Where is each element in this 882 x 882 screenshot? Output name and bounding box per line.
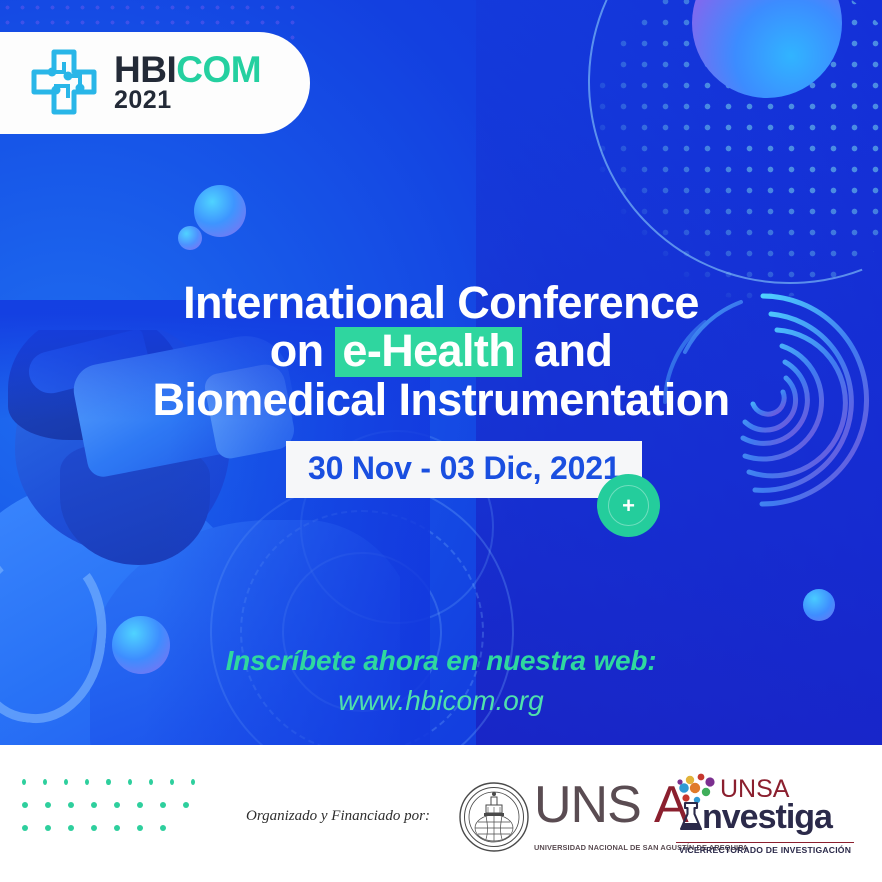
date-badge: 30 Nov - 03 Dic, 2021 <box>286 441 642 498</box>
dot <box>91 825 97 831</box>
logo-year: 2021 <box>114 86 172 114</box>
dot <box>137 802 143 808</box>
investiga-subtitle: VICERRECTORADO DE INVESTIGACIÓN <box>676 842 854 855</box>
dot <box>68 825 74 831</box>
logo-text-com: COM <box>176 51 261 88</box>
title-line-2-before: on <box>270 325 336 376</box>
unsa-investiga-logo: UNSA nvestiga VICERRECTORADO DE INVESTIG… <box>676 773 854 855</box>
cta-headline: Inscríbete ahora en nuestra web: <box>0 645 882 677</box>
medical-cross-circuit-icon <box>28 46 100 118</box>
dot <box>106 779 110 785</box>
svg-text:nvestiga: nvestiga <box>702 798 834 835</box>
flask-icon <box>681 803 701 829</box>
dot <box>137 825 143 831</box>
dot <box>45 825 51 831</box>
dot <box>68 802 74 808</box>
plus-icon: + <box>622 495 635 517</box>
dot <box>170 779 174 785</box>
conference-poster: HBICOM 2021 International Conference on … <box>0 0 882 882</box>
title-line-1: International Conference <box>60 278 822 328</box>
plus-button[interactable]: + <box>597 474 660 537</box>
dot-row <box>22 825 212 848</box>
dot-row <box>22 779 212 802</box>
gradient-sphere-tiny <box>178 226 202 250</box>
svg-text:UNS: UNS <box>534 778 641 832</box>
poster-title: International Conference on e-Health and… <box>0 278 882 426</box>
registration-cta: Inscríbete ahora en nuestra web: www.hbi… <box>0 645 882 717</box>
dot <box>114 825 120 831</box>
dot <box>85 779 89 785</box>
dot <box>191 779 195 785</box>
dot <box>45 802 51 808</box>
title-line-2: on e-Health and <box>60 326 822 377</box>
dot <box>64 779 68 785</box>
dot <box>22 825 28 831</box>
dot <box>160 825 166 831</box>
dot <box>183 802 189 808</box>
poster-background: HBICOM 2021 International Conference on … <box>0 0 882 745</box>
hbicom-logo[interactable]: HBICOM 2021 <box>28 46 261 118</box>
dot <box>149 779 153 785</box>
dot <box>160 802 166 808</box>
dot <box>22 802 28 808</box>
dot <box>114 802 120 808</box>
dot <box>91 802 97 808</box>
gradient-sphere-right <box>803 589 835 621</box>
gradient-sphere-small <box>194 185 246 237</box>
hbicom-wordmark: HBICOM 2021 <box>114 51 261 113</box>
university-seal-icon <box>458 781 530 853</box>
title-highlight-ehealth: e-Health <box>335 327 522 377</box>
dot <box>22 779 26 785</box>
title-line-2-after: and <box>522 325 612 376</box>
poster-footer: Organizado y Financiado por: <box>0 745 882 882</box>
dot <box>43 779 47 785</box>
dot-row <box>22 802 212 825</box>
title-line-3: Biomedical Instrumentation <box>60 375 822 425</box>
cta-website-url[interactable]: www.hbicom.org <box>0 685 882 717</box>
sponsor-label: Organizado y Financiado por: <box>246 808 430 825</box>
dot <box>128 779 132 785</box>
logo-text-hbi: HBI <box>114 51 176 88</box>
footer-dot-grid-decoration <box>22 779 212 839</box>
